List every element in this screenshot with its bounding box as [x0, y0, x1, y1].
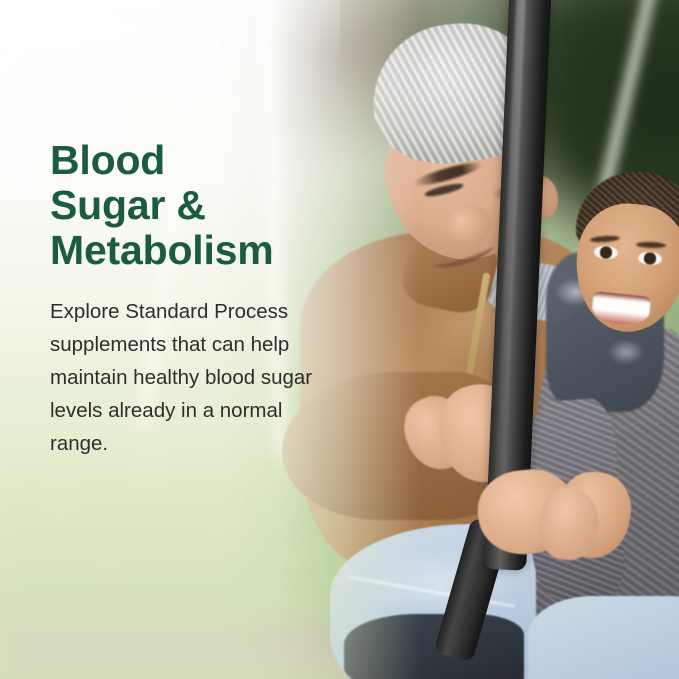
- girl-nose: [608, 272, 634, 292]
- headline-line-2: Sugar &: [50, 183, 350, 228]
- copy-block: Blood Sugar & Metabolism Explore Standar…: [50, 138, 350, 460]
- girl-jeans: [528, 596, 679, 679]
- promo-banner: Blood Sugar & Metabolism Explore Standar…: [0, 0, 679, 679]
- page-title: Blood Sugar & Metabolism: [50, 138, 350, 273]
- headline-line-3: Metabolism: [50, 228, 350, 273]
- subcopy-text: Explore Standard Process supplements tha…: [50, 295, 318, 460]
- headline-line-1: Blood: [50, 138, 350, 183]
